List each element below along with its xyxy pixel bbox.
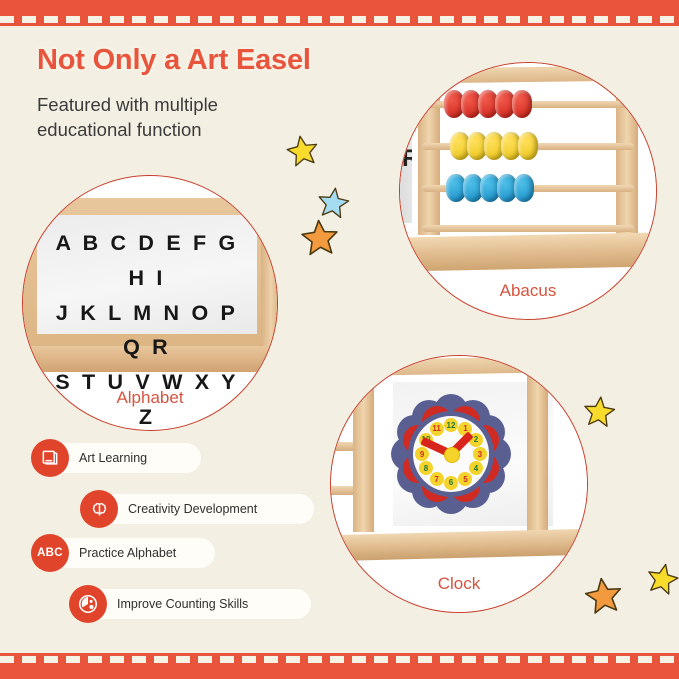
clock-number: 7 bbox=[430, 472, 444, 486]
alphabet-board: A B C D E F G H I J K L M N O P Q R S T … bbox=[23, 198, 277, 358]
abacus-bead bbox=[518, 132, 538, 160]
abacus-post-right bbox=[616, 73, 638, 235]
abc-icon: ABC bbox=[31, 534, 69, 572]
feature-item-creativity[interactable]: Creativity Development bbox=[80, 492, 257, 526]
star-yellow-corner bbox=[641, 559, 679, 604]
page-subtitle: Featured with multiple educational funct… bbox=[37, 92, 218, 142]
clock-number: 9 bbox=[415, 447, 429, 461]
bottom-dashed-line bbox=[0, 656, 679, 663]
feature-label: Improve Counting Skills bbox=[117, 597, 248, 611]
top-dashed-line bbox=[0, 16, 679, 23]
clock-post-right bbox=[527, 362, 548, 532]
abacus-bead-row-red bbox=[444, 90, 529, 118]
clock-number: 6 bbox=[444, 476, 458, 490]
counting-icon bbox=[69, 585, 107, 623]
abacus-rod-4 bbox=[422, 225, 634, 232]
brain-icon bbox=[80, 490, 118, 528]
label-clock: Clock bbox=[331, 574, 587, 594]
abacus-top-bar bbox=[408, 66, 644, 84]
feature-label: Creativity Development bbox=[128, 502, 257, 516]
clock-shelf bbox=[331, 528, 587, 561]
clock-number: 5 bbox=[458, 472, 472, 486]
feature-item-practice-alphabet[interactable]: ABC Practice Alphabet bbox=[31, 536, 176, 570]
feature-item-counting[interactable]: Improve Counting Skills bbox=[69, 587, 248, 621]
star-yellow-top bbox=[283, 131, 323, 175]
star-orange-bottom bbox=[581, 573, 627, 623]
book-icon bbox=[31, 439, 69, 477]
clock-center-hub bbox=[444, 447, 460, 463]
clock-post-left bbox=[353, 362, 374, 532]
abc-icon-text: ABC bbox=[37, 547, 63, 559]
abacus-bead bbox=[512, 90, 532, 118]
clock-number: 4 bbox=[469, 461, 483, 475]
alphabet-board-post bbox=[261, 202, 277, 350]
page-title: Not Only a Art Easel bbox=[37, 44, 311, 77]
feature-circle-abacus: A R Abacus bbox=[399, 62, 657, 320]
clock-number: 12 bbox=[444, 418, 458, 432]
label-alphabet: Alphabet bbox=[23, 388, 277, 408]
feature-item-art-learning[interactable]: Art Learning bbox=[31, 441, 147, 475]
top-border-band bbox=[0, 0, 679, 26]
star-orange-mid bbox=[298, 217, 341, 265]
label-abacus: Abacus bbox=[400, 281, 656, 301]
abacus-bead-row-yellow bbox=[450, 132, 535, 160]
abacus-bead bbox=[514, 174, 534, 202]
toy-clock: 121234567891011 bbox=[397, 400, 505, 508]
feature-circle-clock: 121234567891011 Clock bbox=[330, 355, 588, 613]
feature-label: Practice Alphabet bbox=[79, 546, 176, 560]
feature-label: Art Learning bbox=[79, 451, 147, 465]
abacus-frame bbox=[412, 67, 640, 237]
feature-circle-alphabet: A B C D E F G H I J K L M N O P Q R S T … bbox=[22, 175, 278, 431]
bottom-border-band bbox=[0, 653, 679, 679]
star-yellow-right bbox=[580, 393, 618, 435]
abacus-post-left bbox=[418, 73, 440, 235]
abacus-shelf bbox=[400, 232, 656, 272]
clock-number: 11 bbox=[430, 422, 444, 436]
abacus-bead-row-blue bbox=[446, 174, 531, 202]
infographic-page: Not Only a Art Easel Featured with multi… bbox=[0, 0, 679, 679]
clock-number: 3 bbox=[473, 447, 487, 461]
